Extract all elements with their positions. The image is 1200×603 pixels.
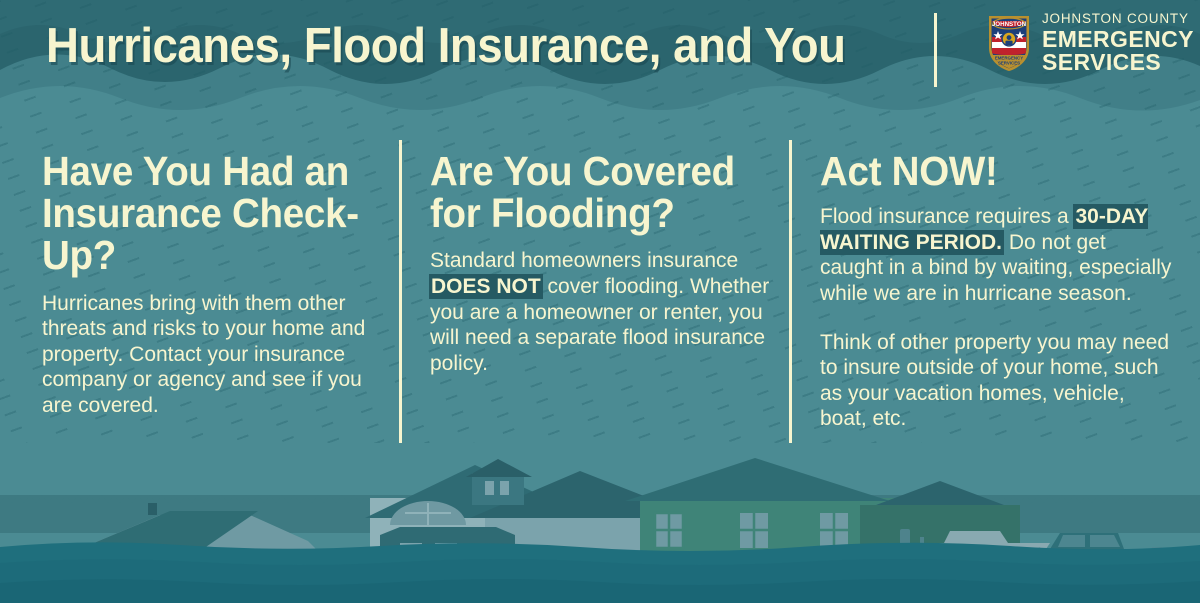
column-body: Hurricanes bring with them other threats… <box>42 291 384 419</box>
emphasis-highlight: DOES NOT <box>430 275 542 298</box>
column-divider-1 <box>399 140 402 448</box>
text-run: Hurricanes bring with them other threats… <box>42 292 365 417</box>
johnston-county-badge-icon: JOHNSTON EMERGENCY SERVICES <box>986 12 1032 74</box>
agency-wordmark: JOHNSTON COUNTY EMERGENCY SERVICES <box>1042 12 1194 74</box>
column-body: Standard homeowners insurance DOES NOT c… <box>430 248 775 376</box>
text-run: Standard homeowners insurance <box>430 249 738 272</box>
column-heading: Have You Had an Insurance Check-Up? <box>42 150 363 277</box>
column-covered-for-flooding: Are You Covered for Flooding? Standard h… <box>430 150 775 376</box>
agency-line-services: SERVICES <box>1042 51 1194 74</box>
column-act-now: Act NOW! Flood insurance requires a 30-D… <box>820 150 1172 432</box>
paragraph: Hurricanes bring with them other threats… <box>42 291 384 419</box>
agency-logo: JOHNSTON EMERGENCY SERVICES JOHNSTON COU… <box>986 12 1194 74</box>
text-run: Think of other property you may need to … <box>820 331 1169 431</box>
flood-scene-illustration <box>0 443 1200 603</box>
column-divider-2 <box>789 140 792 448</box>
paragraph: Think of other property you may need to … <box>820 330 1172 432</box>
header: Hurricanes, Flood Insurance, and You JOH… <box>0 0 1200 100</box>
paragraph: Standard homeowners insurance DOES NOT c… <box>430 248 775 376</box>
infographic-poster: Hurricanes, Flood Insurance, and You JOH… <box>0 0 1200 603</box>
column-heading: Are You Covered for Flooding? <box>430 150 754 234</box>
text-run: Flood insurance requires a <box>820 205 1074 228</box>
svg-text:SERVICES: SERVICES <box>998 61 1020 66</box>
paragraph: Flood insurance requires a 30-DAY WAITIN… <box>820 204 1172 306</box>
column-heading: Act NOW! <box>820 150 1151 192</box>
svg-text:JOHNSTON: JOHNSTON <box>992 21 1027 28</box>
header-divider <box>934 13 937 87</box>
column-body: Flood insurance requires a 30-DAY WAITIN… <box>820 204 1172 432</box>
column-insurance-check-up: Have You Had an Insurance Check-Up? Hurr… <box>42 150 384 419</box>
page-title: Hurricanes, Flood Insurance, and You <box>46 18 845 74</box>
agency-line-county: JOHNSTON COUNTY <box>1042 12 1194 26</box>
agency-line-emergency: EMERGENCY <box>1042 28 1194 51</box>
